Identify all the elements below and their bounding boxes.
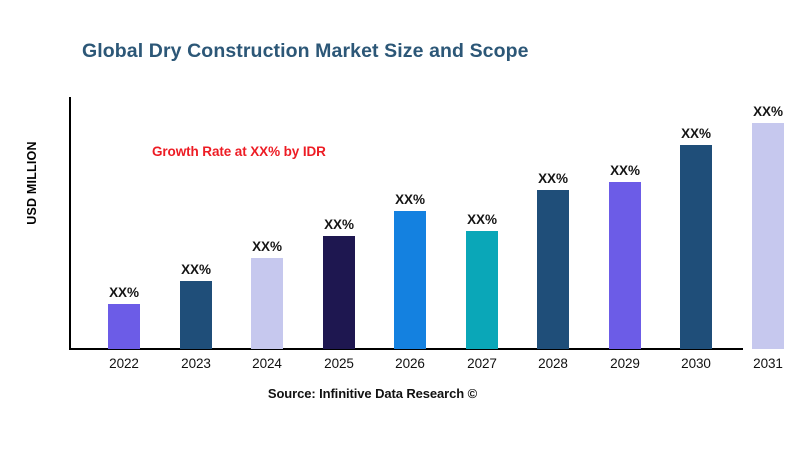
bar-value-label: XX% <box>538 171 568 186</box>
plot-area: XX%2022XX%2023XX%2024XX%2025XX%2026XX%20… <box>0 0 800 450</box>
x-tick-label: 2026 <box>395 356 425 371</box>
bar-value-label: XX% <box>395 192 425 207</box>
bar-group: XX%2023 <box>180 281 212 349</box>
bar[interactable] <box>394 211 426 349</box>
bar[interactable] <box>466 231 498 349</box>
x-tick-label: 2030 <box>681 356 711 371</box>
bar-value-label: XX% <box>109 285 139 300</box>
bar-value-label: XX% <box>252 239 282 254</box>
bar-group: XX%2028 <box>537 190 569 349</box>
bar-value-label: XX% <box>324 217 354 232</box>
bar-value-label: XX% <box>467 212 497 227</box>
bar-group: XX%2027 <box>466 231 498 349</box>
x-tick-label: 2028 <box>538 356 568 371</box>
bar[interactable] <box>537 190 569 349</box>
bar[interactable] <box>251 258 283 349</box>
x-tick-label: 2029 <box>610 356 640 371</box>
x-tick-label: 2027 <box>467 356 497 371</box>
bar[interactable] <box>680 145 712 349</box>
bar-group: XX%2029 <box>609 182 641 349</box>
growth-rate-annotation: Growth Rate at XX% by IDR <box>152 144 326 159</box>
bar[interactable] <box>752 123 784 349</box>
bar-value-label: XX% <box>181 262 211 277</box>
bar-group: XX%2022 <box>108 304 140 349</box>
source-note: Source: Infinitive Data Research © <box>0 386 745 401</box>
chart-canvas: Global Dry Construction Market Size and … <box>0 0 800 450</box>
bar[interactable] <box>323 236 355 349</box>
bar-group: XX%2026 <box>394 211 426 349</box>
bar[interactable] <box>108 304 140 349</box>
x-tick-label: 2022 <box>109 356 139 371</box>
bar-group: XX%2025 <box>323 236 355 349</box>
bar[interactable] <box>180 281 212 349</box>
bar-value-label: XX% <box>753 104 783 119</box>
bar-value-label: XX% <box>681 126 711 141</box>
bar-group: XX%2031 <box>752 123 784 349</box>
bar[interactable] <box>609 182 641 349</box>
bar-group: XX%2030 <box>680 145 712 349</box>
x-tick-label: 2025 <box>324 356 354 371</box>
x-tick-label: 2031 <box>753 356 783 371</box>
x-tick-label: 2023 <box>181 356 211 371</box>
x-tick-label: 2024 <box>252 356 282 371</box>
bar-group: XX%2024 <box>251 258 283 349</box>
bar-value-label: XX% <box>610 163 640 178</box>
